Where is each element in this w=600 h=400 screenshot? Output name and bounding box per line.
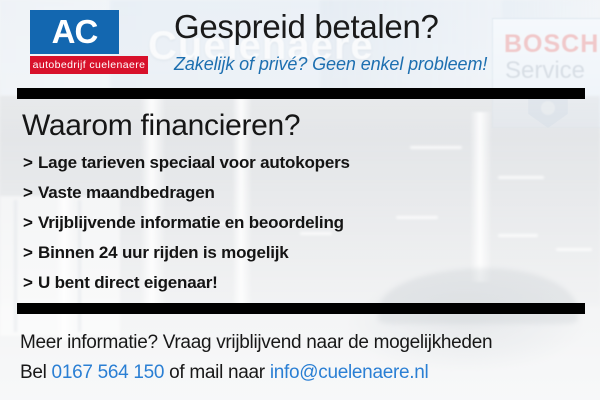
bullet-marker-icon: >: [23, 178, 38, 208]
subheadline: Zakelijk of privé? Geen enkel probleem!: [174, 54, 487, 75]
list-item: >Binnen 24 uur rijden is mogelijk: [23, 238, 350, 268]
phone-link[interactable]: 0167 564 150: [52, 362, 165, 383]
footer-info-text: Meer informatie? Vraag vrijblijvend naar…: [20, 332, 492, 354]
divider-top: [17, 88, 585, 99]
list-item: >Vrijblijvende informatie en beoordeling: [23, 208, 350, 238]
bullet-marker-icon: >: [23, 238, 38, 268]
benefits-list: >Lage tarieven speciaal voor autokopers …: [23, 148, 350, 298]
headline: Gespreid betalen?: [174, 8, 439, 46]
banner-content: AC autobedrijf cuelenaere Gespreid betal…: [0, 0, 600, 400]
list-item-label: Binnen 24 uur rijden is mogelijk: [38, 243, 289, 262]
bullet-marker-icon: >: [23, 268, 38, 298]
logo-blue-box: AC: [30, 10, 119, 54]
bullet-marker-icon: >: [23, 208, 38, 238]
list-item-label: Vaste maandbedragen: [38, 183, 215, 202]
footer-mail-prefix: of mail naar: [164, 362, 270, 383]
company-logo[interactable]: AC autobedrijf cuelenaere: [30, 10, 148, 74]
bullet-marker-icon: >: [23, 148, 38, 178]
financing-advertisement-banner: Cuelenaere BOSCH Service AC autobedr: [0, 0, 600, 400]
footer-call-prefix: Bel: [20, 362, 52, 383]
email-link[interactable]: info@cuelenaere.nl: [270, 362, 429, 383]
list-item: >U bent direct eigenaar!: [23, 268, 350, 298]
logo-tagline: autobedrijf cuelenaere: [30, 56, 148, 74]
footer-contact-line: Bel 0167 564 150 of mail naar info@cuele…: [20, 362, 428, 384]
divider-bottom: [17, 303, 585, 314]
logo-initials: AC: [30, 15, 119, 48]
list-item: >Vaste maandbedragen: [23, 178, 350, 208]
section-title: Waarom financieren?: [22, 109, 300, 143]
list-item: >Lage tarieven speciaal voor autokopers: [23, 148, 350, 178]
list-item-label: Vrijblijvende informatie en beoordeling: [38, 213, 344, 232]
list-item-label: U bent direct eigenaar!: [38, 273, 218, 292]
list-item-label: Lage tarieven speciaal voor autokopers: [38, 153, 350, 172]
